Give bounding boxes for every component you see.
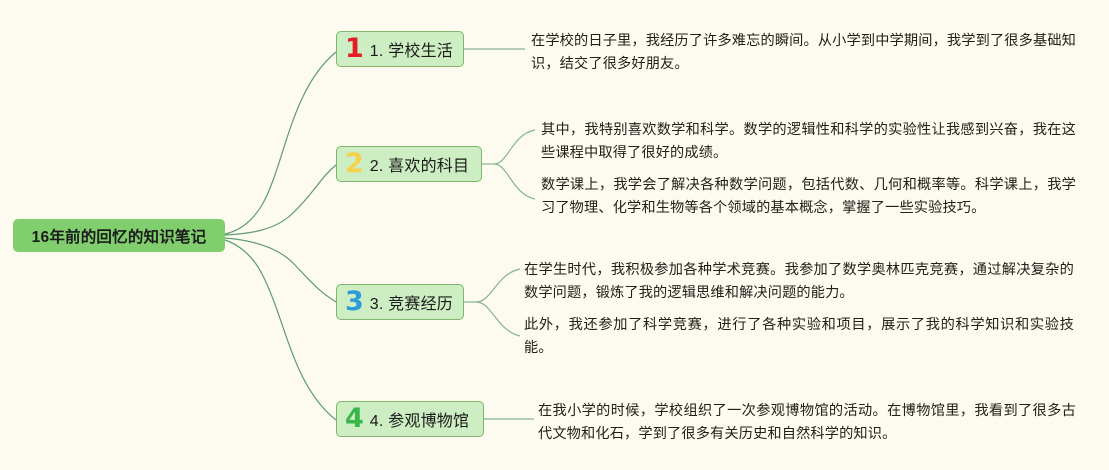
branch-label-2: 2. 喜欢的科目: [370, 152, 469, 176]
branch-label-4: 4. 参观博物馆: [370, 407, 469, 431]
connector-branch-3-leaf-1: [476, 269, 520, 302]
branch-number-3: 3: [345, 288, 364, 315]
branch-number-1: 1: [345, 35, 364, 62]
connector-branch-2-leaf-1: [494, 130, 535, 164]
leaf-text-2-1: 其中，我特别喜欢数学和科学。数学的逻辑性和科学的实验性让我感到兴奋，我在这些课程…: [541, 119, 1076, 165]
branch-node-4[interactable]: 4 4. 参观博物馆: [336, 401, 484, 437]
branch-number-4: 4: [345, 405, 364, 432]
branch-node-3[interactable]: 3 3. 竞赛经历: [336, 284, 464, 320]
leaf-text-2-2: 数学课上，我学会了解决各种数学问题，包括代数、几何和概率等。科学课上，我学习了物…: [541, 174, 1076, 220]
connector-root-to-branch-4: [225, 240, 336, 420]
leaf-text-1-1: 在学校的日子里，我经历了许多难忘的瞬间。从小学到中学期间，我学到了很多基础知识，…: [531, 30, 1076, 76]
connector-branch-2-leaf-2: [494, 164, 535, 199]
branch-label-1: 1. 学校生活: [370, 37, 453, 61]
branch-node-2[interactable]: 2 2. 喜欢的科目: [336, 146, 482, 182]
mindmap-canvas: 16年前的回忆的知识笔记 1 1. 学校生活 在学校的日子里，我经历了许多难忘的…: [0, 0, 1109, 470]
connector-root-to-branch-1: [225, 52, 336, 234]
root-node[interactable]: 16年前的回忆的知识笔记: [13, 219, 225, 252]
branch-label-3: 3. 竞赛经历: [370, 290, 453, 314]
connector-branch-3-leaf-2: [476, 302, 520, 336]
root-node-label: 16年前的回忆的知识笔记: [32, 225, 207, 247]
branch-number-2: 2: [345, 150, 364, 177]
connector-root-to-branch-3: [225, 238, 336, 302]
connector-root-to-branch-2: [225, 165, 336, 235]
leaf-text-3-1: 在学生时代，我积极参加各种学术竞赛。我参加了数学奥林匹克竞赛，通过解决复杂的数学…: [524, 259, 1074, 305]
leaf-text-4-1: 在我小学的时候，学校组织了一次参观博物馆的活动。在博物馆里，我看到了很多古代文物…: [538, 400, 1076, 446]
branch-node-1[interactable]: 1 1. 学校生活: [336, 31, 464, 67]
leaf-text-3-2: 此外，我还参加了科学竞赛，进行了各种实验和项目，展示了我的科学知识和实验技能。: [524, 314, 1074, 360]
